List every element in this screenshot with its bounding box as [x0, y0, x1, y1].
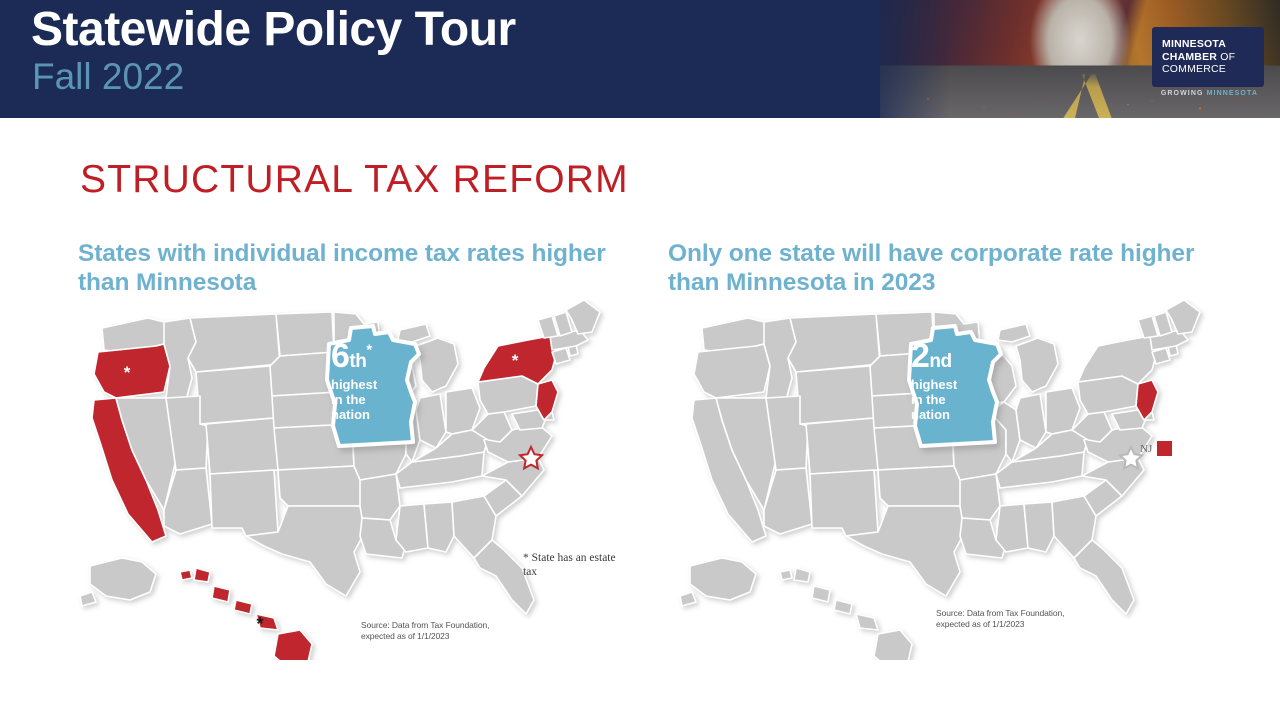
section-title: STRUCTURAL TAX REFORM	[80, 158, 629, 202]
mn-rank-number-left: 6	[331, 337, 349, 375]
state-indiana	[1016, 394, 1046, 448]
state-alabama	[424, 502, 454, 552]
mn-rank-right: 2nd	[911, 340, 1003, 372]
state-oregon	[94, 344, 170, 398]
mn-badge-text-right: 2nd highest in the nation	[911, 340, 1003, 423]
state-new-mexico	[810, 470, 878, 536]
state-colorado	[206, 418, 278, 474]
chamber-logo: MINNESOTA CHAMBER OF COMMERCE	[1152, 27, 1264, 87]
state-florida	[1074, 540, 1134, 614]
nj-legend-label: NJ	[1140, 443, 1152, 455]
state-pennsylvania	[478, 376, 538, 414]
nj-legend-swatch	[1157, 441, 1172, 456]
state-oklahoma	[278, 466, 366, 506]
logo-line-chamber-of: CHAMBER OF	[1162, 51, 1264, 64]
state-wyoming	[796, 366, 874, 424]
state-alabama	[1024, 502, 1054, 552]
mn-badge-sub-right: highest in the nation	[911, 378, 1003, 422]
state-mississippi	[396, 504, 428, 552]
state-pennsylvania	[1078, 376, 1138, 414]
state-hawaii	[780, 568, 912, 660]
mn-badge-text-left: 6th* highest in the nation	[331, 340, 423, 423]
mn-rank-star-left: *	[366, 342, 371, 359]
state-montana	[788, 314, 880, 372]
mn-sub-line1-right: highest	[911, 378, 1003, 393]
logo-line-minnesota: MINNESOTA	[1162, 38, 1264, 51]
mn-sub-line2-left: in the	[331, 393, 423, 408]
state-new-york	[1078, 336, 1158, 384]
asterisk-marker-hawaii: *	[256, 614, 263, 634]
panel-corporate-tax: Only one state will have corporate rate …	[668, 240, 1233, 298]
panel-heading-right: Only one state will have corporate rate …	[668, 240, 1233, 298]
state-connecticut	[1152, 348, 1170, 364]
asterisk-marker-oregon: *	[124, 363, 131, 382]
state-arkansas	[360, 474, 400, 520]
state-new-mexico	[210, 470, 278, 536]
mn-sub-line1-left: highest	[331, 378, 423, 393]
panel-heading-left: States with individual income tax rates …	[78, 240, 638, 298]
state-arkansas	[960, 474, 1000, 520]
state-mississippi	[996, 504, 1028, 552]
logo-line-commerce: COMMERCE	[1162, 63, 1264, 76]
mn-badge-sub-left: highest in the nation	[331, 378, 423, 422]
mn-rank-suffix-right: nd	[929, 351, 951, 372]
mn-sub-line2-right: in the	[911, 393, 1003, 408]
source-note-left: Source: Data from Tax Foundation, expect…	[361, 620, 511, 641]
state-alaska	[80, 558, 156, 606]
mn-rank-number-right: 2	[911, 337, 929, 375]
state-hawaii	[180, 568, 312, 660]
mn-rank-left: 6th*	[331, 340, 423, 372]
logo-tagline: GROWING MINNESOTA	[1161, 90, 1258, 97]
logo-chamber-word: CHAMBER	[1162, 51, 1217, 63]
panel-individual-income-tax: States with individual income tax rates …	[78, 240, 638, 298]
asterisk-marker-new-york: *	[512, 351, 519, 370]
mn-sub-line3-left: nation	[331, 408, 423, 423]
page-title: Statewide Policy Tour	[31, 4, 516, 57]
source-note-right: Source: Data from Tax Foundation, expect…	[936, 608, 1086, 629]
photo-fade-overlay	[810, 0, 880, 118]
state-alaska	[680, 558, 756, 606]
estate-tax-footnote: * State has an estate tax	[523, 551, 618, 580]
state-connecticut	[552, 348, 570, 364]
nj-legend: NJ	[1140, 441, 1172, 456]
minnesota-rank-badge-left: 6th* highest in the nation	[315, 318, 435, 458]
page-subtitle: Fall 2022	[32, 57, 184, 98]
mn-rank-suffix-left: th	[349, 351, 366, 372]
logo-of-word: OF	[1217, 51, 1235, 63]
state-montana	[188, 314, 280, 372]
tagline-minnesota: MINNESOTA	[1207, 90, 1258, 97]
mn-sub-line3-right: nation	[911, 408, 1003, 423]
tagline-growing: GROWING	[1161, 90, 1207, 97]
header-banner: Statewide Policy Tour Fall 2022 MINNESOT…	[0, 0, 1280, 118]
minnesota-rank-badge-right: 2nd highest in the nation	[897, 318, 1017, 458]
state-oregon	[694, 344, 770, 398]
state-wyoming	[196, 366, 274, 424]
state-colorado	[806, 418, 878, 474]
state-oklahoma	[878, 466, 966, 506]
slide-root: Statewide Policy Tour Fall 2022 MINNESOT…	[0, 0, 1280, 720]
